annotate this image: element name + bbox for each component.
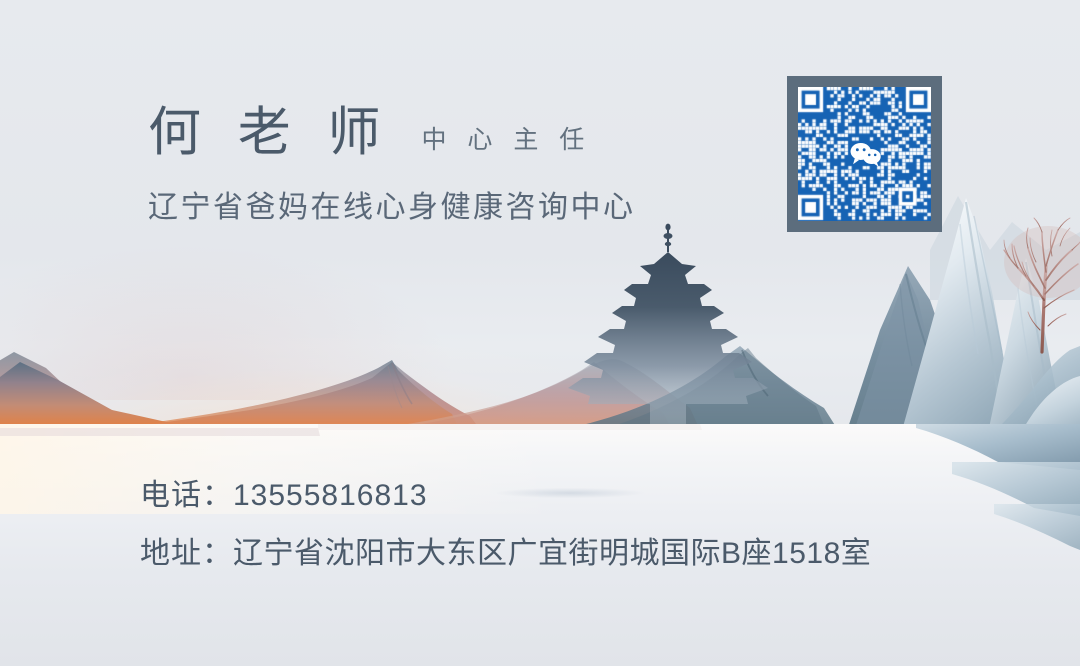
organization-name: 辽宁省爸妈在线心身健康咨询中心 — [148, 190, 636, 226]
wechat-qr-code[interactable] — [787, 76, 942, 232]
phone-value[interactable]: 13555816813 — [233, 481, 428, 511]
person-title: 中 心 主 任 — [421, 128, 591, 159]
address-label: 地址： — [140, 539, 233, 569]
contact-info: 电话： 13555816813 地址： 辽宁省沈阳市大东区广宜街明城国际B座15… — [140, 481, 871, 569]
contact-row-address: 地址： 辽宁省沈阳市大东区广宜街明城国际B座1518室 — [140, 539, 871, 569]
qr-modules-area — [798, 87, 931, 221]
wechat-logo — [848, 141, 882, 167]
business-card: 何 老 师 中 心 主 任 辽宁省爸妈在线心身健康咨询中心 电话： 135558… — [0, 0, 1080, 666]
address-value: 辽宁省沈阳市大东区广宜街明城国际B座1518室 — [233, 539, 871, 569]
person-name: 何 老 师 — [148, 106, 391, 159]
name-row: 何 老 师 中 心 主 任 — [148, 106, 591, 159]
contact-row-phone: 电话： 13555816813 — [140, 481, 871, 511]
phone-label: 电话： — [140, 481, 233, 511]
